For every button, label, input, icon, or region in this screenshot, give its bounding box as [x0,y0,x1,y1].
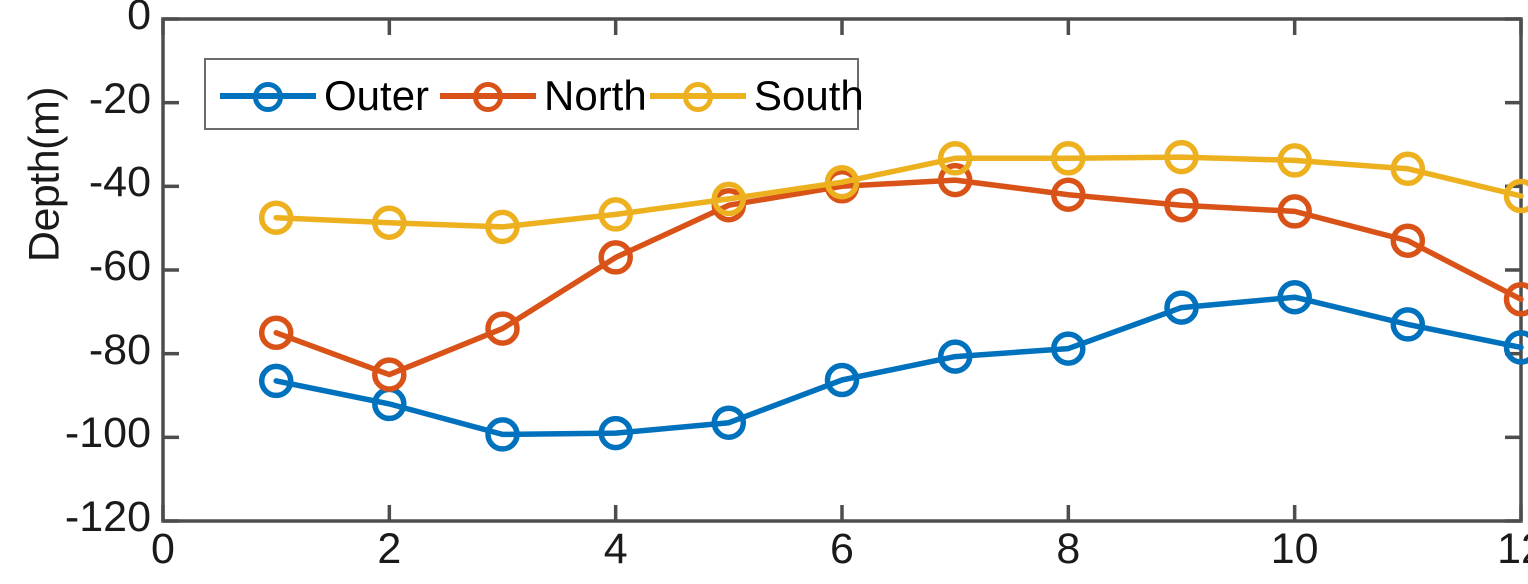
legend-line-marker-icon [220,76,316,116]
legend-entry-north[interactable]: North [440,60,647,132]
legend-line-marker-icon [650,76,746,116]
legend-label: South [754,72,864,120]
series-south [262,143,1528,242]
legend-circle-marker-icon [253,82,283,112]
data-series-layer [262,143,1528,449]
series-north [262,166,1528,390]
legend-entry-outer[interactable]: Outer [220,60,429,132]
chart-legend[interactable]: OuterNorthSouth [204,58,859,130]
legend-label: North [544,72,647,120]
legend-circle-marker-icon [683,82,713,112]
series-outer [262,283,1528,449]
chart-figure: Depth(m) 0-20-40-60-80-100-120 024681012… [0,0,1528,584]
legend-circle-marker-icon [473,82,503,112]
legend-label: Outer [324,72,429,120]
legend-entry-south[interactable]: South [650,60,864,132]
legend-line-marker-icon [440,76,536,116]
